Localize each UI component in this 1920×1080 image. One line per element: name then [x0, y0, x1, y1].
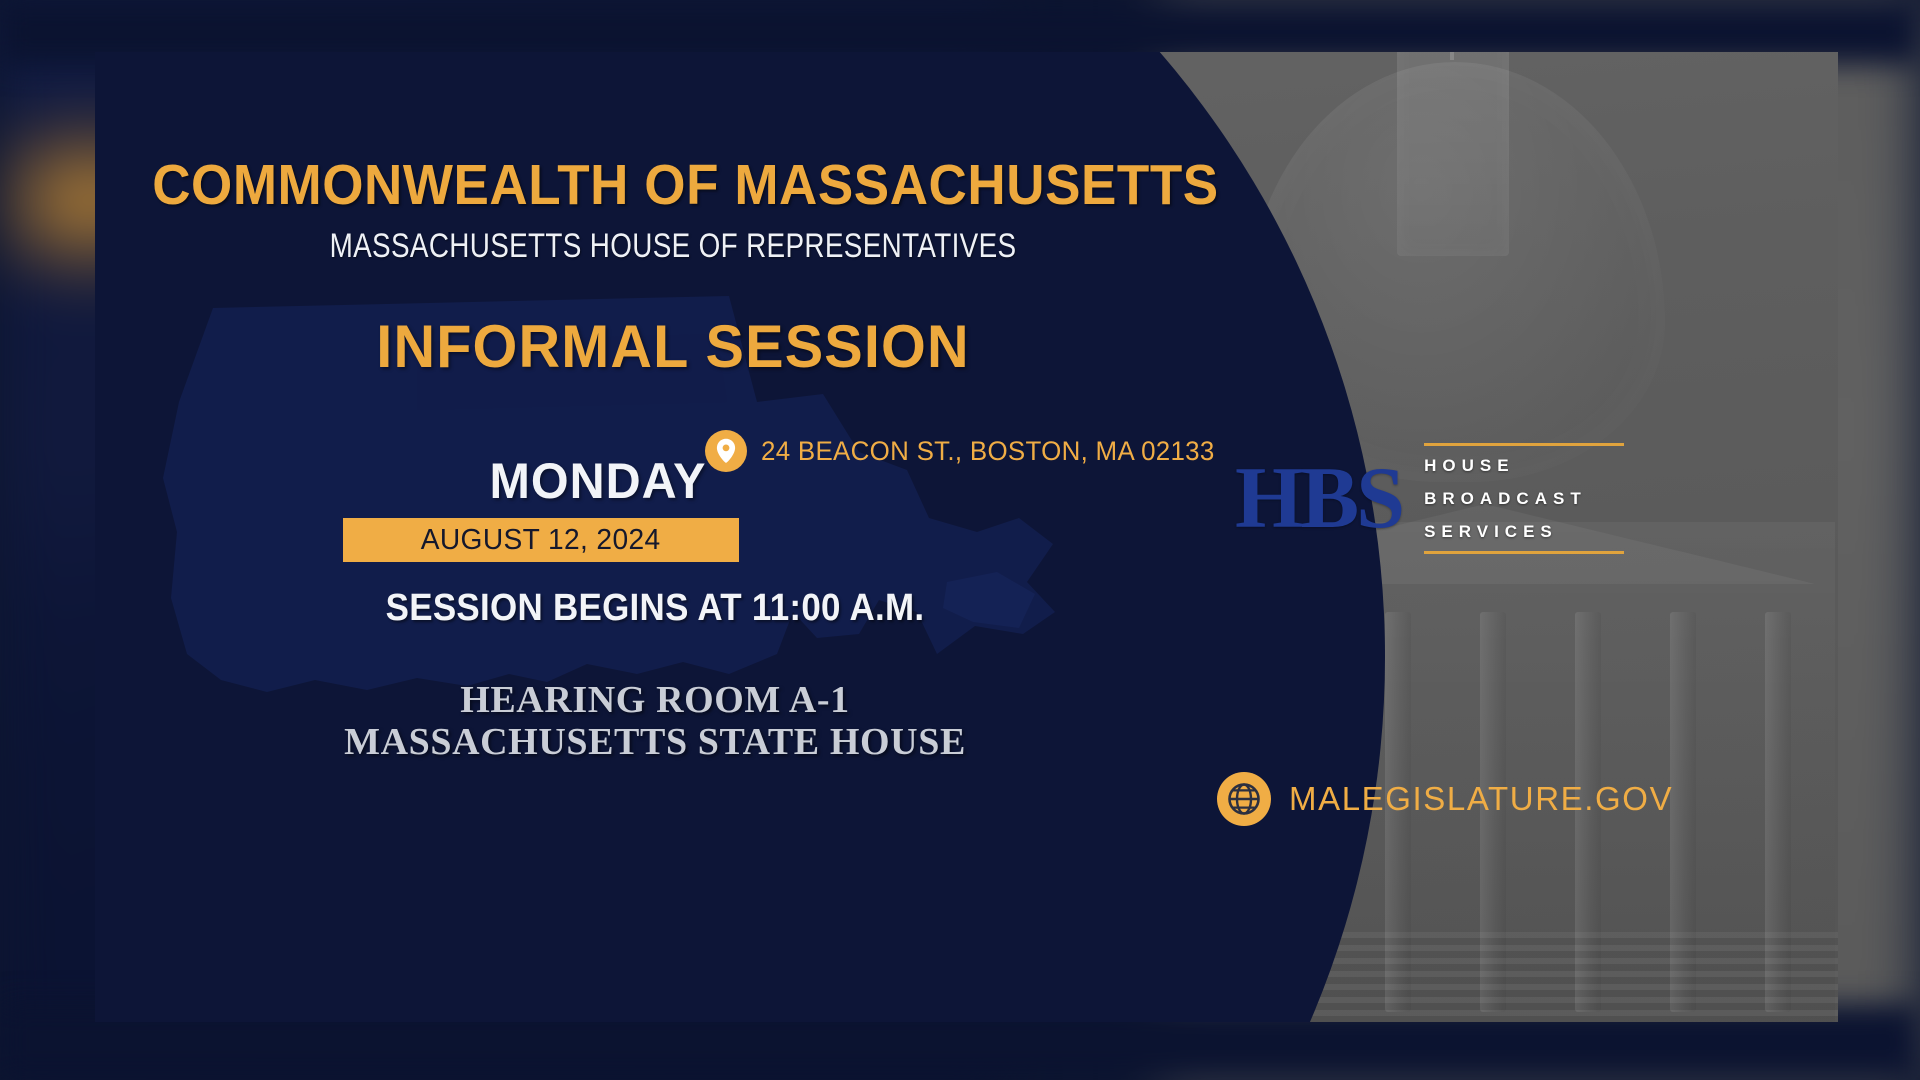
hbs-word-house: HOUSE [1424, 453, 1624, 479]
page-title: COMMONWEALTH OF MASSACHUSETTS [152, 152, 1194, 218]
session-start-time: SESSION BEGINS AT 11:00 A.M. [195, 587, 1115, 630]
hbs-word-services: SERVICES [1424, 519, 1624, 545]
hbs-word-broadcast: BROADCAST [1424, 486, 1624, 512]
hbs-monogram: HBS [1235, 457, 1402, 541]
session-slate-card: COMMONWEALTH OF MASSACHUSETTS MASSACHUSE… [95, 52, 1838, 1022]
website-row[interactable]: MALEGISLATURE.GOV [1217, 772, 1673, 826]
venue-block: HEARING ROOM A-1 MASSACHUSETTS STATE HOU… [155, 680, 1155, 764]
website-url[interactable]: MALEGISLATURE.GOV [1289, 780, 1673, 818]
venue-building: MASSACHUSETTS STATE HOUSE [155, 722, 1155, 764]
event-day: MONDAY [331, 452, 865, 510]
hbs-rule-bottom [1424, 551, 1624, 554]
slate-content: COMMONWEALTH OF MASSACHUSETTS MASSACHUSE… [95, 52, 1838, 1022]
hbs-logo: HBS HOUSE BROADCAST SERVICES [1235, 437, 1624, 560]
session-type-heading: INFORMAL SESSION [135, 312, 1210, 381]
event-date-badge: AUGUST 12, 2024 [343, 518, 739, 562]
hbs-wordmark: HOUSE BROADCAST SERVICES [1424, 437, 1624, 560]
venue-room: HEARING ROOM A-1 [155, 680, 1155, 722]
globe-icon [1217, 772, 1271, 826]
hbs-rule-top [1424, 443, 1624, 446]
page-subtitle: MASSACHUSETTS HOUSE OF REPRESENTATIVES [214, 227, 1132, 266]
event-date-text: AUGUST 12, 2024 [421, 524, 661, 557]
